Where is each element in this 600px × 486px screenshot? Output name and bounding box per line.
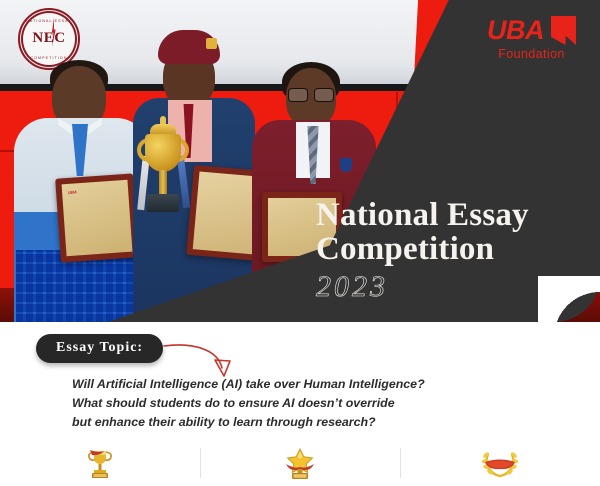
uba-foundation-label: Foundation xyxy=(487,47,576,61)
uba-wordmark: UBA xyxy=(487,17,544,44)
nec-arc-bottom-label: COMPETITION xyxy=(20,56,78,60)
glasses-icon xyxy=(288,88,334,100)
award-item-star xyxy=(200,442,400,486)
title-year: 2023 xyxy=(316,270,529,304)
student-one-plaque: UBA xyxy=(55,173,139,262)
uba-foundation-logo: UBA Foundation xyxy=(487,16,576,61)
award-item-trophy xyxy=(0,442,200,486)
awards-row xyxy=(0,442,600,486)
uba-logo-row: UBA xyxy=(487,16,576,45)
trophy-cup xyxy=(145,134,181,172)
topic-section: Essay Topic: Will Artificial Intelligenc… xyxy=(0,322,600,486)
laurel-wreath-icon xyxy=(480,449,520,479)
trophy-base xyxy=(147,194,179,212)
award-item-laurel xyxy=(400,442,600,486)
trophy-stem xyxy=(159,170,167,196)
question-line-one: Will Artificial Intelligence (AI) take o… xyxy=(72,375,542,394)
star-trophy-icon xyxy=(283,447,317,481)
question-line-three: but enhance their ability to learn throu… xyxy=(72,413,542,432)
uba-flag-icon xyxy=(551,16,576,45)
student-three-crest-icon xyxy=(340,158,352,172)
nec-wordmark: NEC xyxy=(20,30,78,47)
plaque-uba-mark: UBA xyxy=(68,189,77,195)
title-line-one: National Essay xyxy=(316,198,529,232)
question-line-two: What should students do to ensure AI doe… xyxy=(72,394,542,413)
hero-banner: NATIONAL ESSAY NEC COMPETITION UBA xyxy=(0,0,600,322)
nec-arc-top-label: NATIONAL ESSAY xyxy=(20,19,78,23)
page-title: National Essay Competition 2023 xyxy=(316,198,529,304)
essay-topic-badge: Essay Topic: xyxy=(36,334,163,363)
title-line-two: Competition xyxy=(316,232,529,266)
trophy-cup-icon xyxy=(85,447,115,481)
essay-question: Will Artificial Intelligence (AI) take o… xyxy=(72,375,542,432)
student-two-cap-badge xyxy=(206,38,217,49)
gold-trophy-icon xyxy=(137,112,189,224)
